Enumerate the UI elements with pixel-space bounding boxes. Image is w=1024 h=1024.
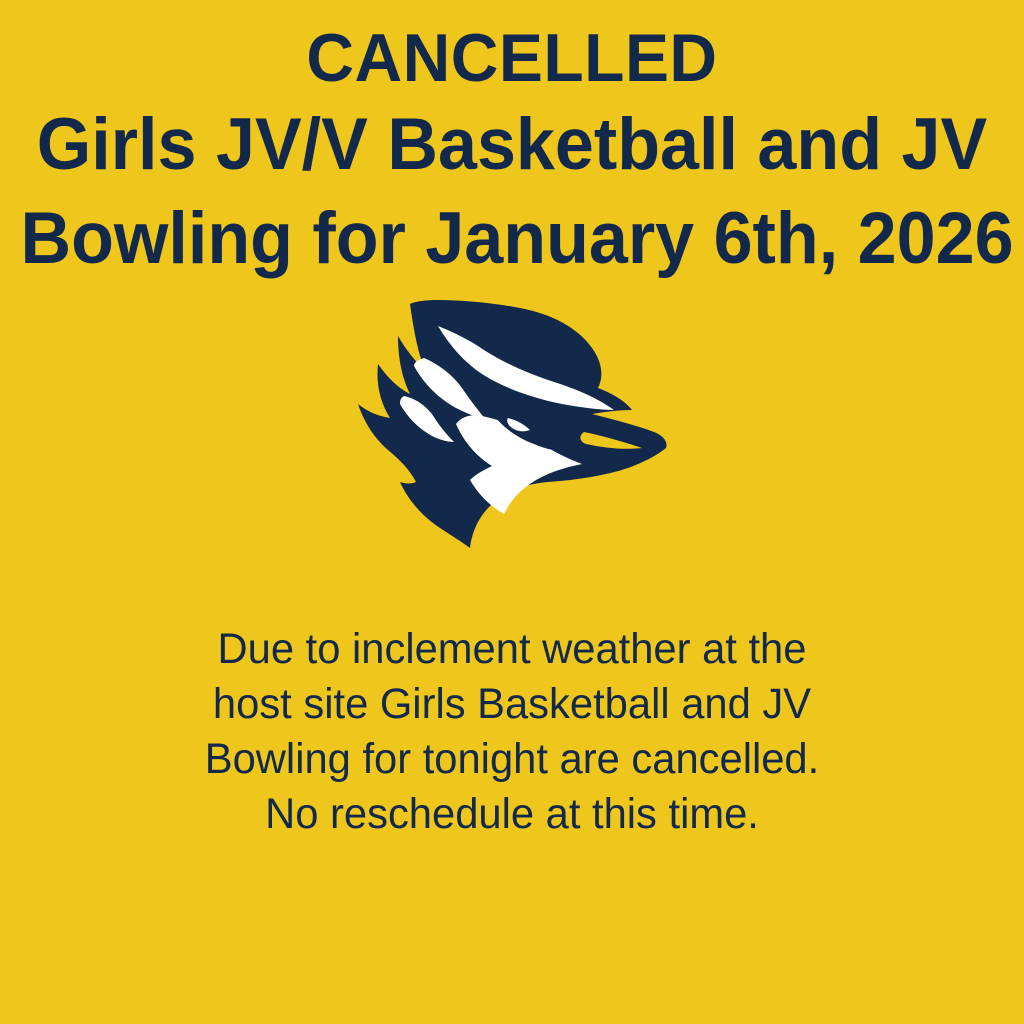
body-line: Due to inclement weather at the (15, 622, 1008, 677)
body-line: host site Girls Basketball and JV (15, 677, 1008, 732)
heading-block: CANCELLED Girls JV/V Basketball and JV B… (0, 0, 1024, 286)
body-line: Bowling for tonight are cancelled. (15, 732, 1008, 787)
blue-jay-mascot-logo (352, 292, 672, 548)
page-title: CANCELLED (15, 18, 1008, 98)
cancellation-announcement-poster: CANCELLED Girls JV/V Basketball and JV B… (0, 0, 1024, 1024)
subtitle-line-2: Bowling for January 6th, 2026 (20, 192, 1003, 286)
body-line: No reschedule at this time. (15, 787, 1008, 842)
body-message: Due to inclement weather at the host sit… (0, 622, 1024, 842)
blue-jay-icon (358, 300, 667, 548)
subtitle-line-1: Girls JV/V Basketball and JV (20, 98, 1003, 192)
